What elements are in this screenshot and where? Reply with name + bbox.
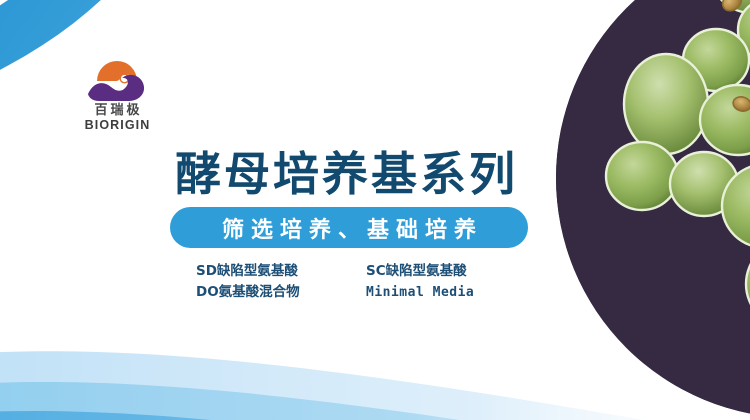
feature-list: SD缺陷型氨基酸 SC缺陷型氨基酸 DO氨基酸混合物 Minimal Media [196,261,536,303]
feature-item: Minimal Media [366,282,536,303]
brand-name-cn: 百瑞极 [62,103,172,118]
feature-item: SC缺陷型氨基酸 [366,261,536,282]
brand-logo: 百瑞极 BIORIGIN [62,54,172,138]
subtitle-pill: 筛选培养、基础培养 [170,207,528,248]
page-title: 酵母培养基系列 [175,148,518,200]
brand-name-en: BIORIGIN [62,118,172,132]
feature-item: SD缺陷型氨基酸 [196,261,366,282]
subtitle-pill-label: 筛选培养、基础培养 [215,212,483,244]
feature-item: DO氨基酸混合物 [196,282,366,303]
product-banner: 百瑞极 BIORIGIN 酵母培养基系列 筛选培养、基础培养 SD缺陷型氨基酸 … [0,0,750,420]
yeast-micrograph-image [556,0,750,418]
biorigin-wave-sun-logo-icon [80,54,154,102]
